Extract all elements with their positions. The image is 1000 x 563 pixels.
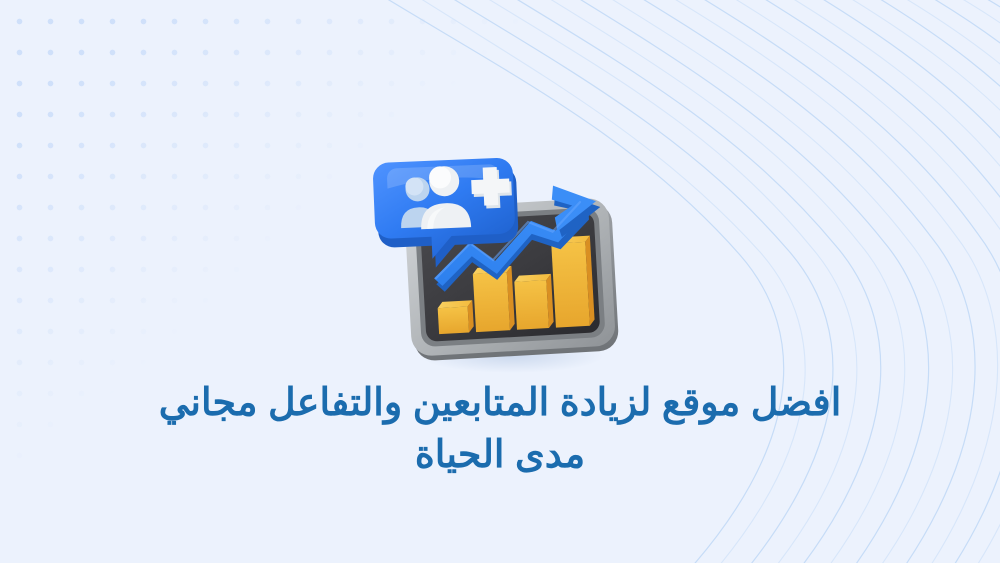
3d-growth-chart-illustration — [378, 148, 628, 376]
headline-line-1: افضل موقع لزيادة المتابعين والتفاعل مجان… — [60, 378, 940, 428]
bar-1 — [437, 300, 474, 334]
bar-4 — [551, 236, 595, 328]
headline-line-2: مدى الحياة — [60, 430, 940, 480]
banner-canvas: افضل موقع لزيادة المتابعين والتفاعل مجان… — [0, 0, 1000, 563]
page-title: افضل موقع لزيادة المتابعين والتفاعل مجان… — [0, 378, 1000, 480]
bar-3 — [514, 274, 554, 330]
